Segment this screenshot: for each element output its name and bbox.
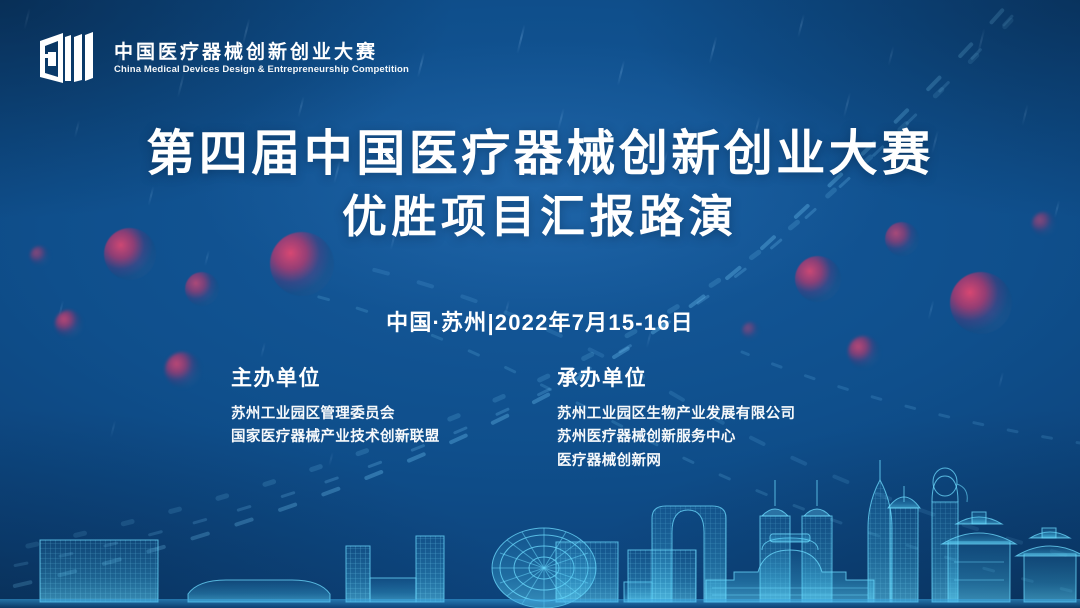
orb <box>795 256 841 302</box>
headline-line-1: 第四届中国医疗器械创新创业大赛 <box>0 126 1080 183</box>
headline-line-2: 优胜项目汇报路演 <box>0 190 1080 245</box>
exhibition-grid-b <box>628 550 696 602</box>
organizer-title: 承办单位 <box>557 368 867 389</box>
open-door-logo-mark-icon <box>38 31 100 87</box>
exhibition-grid-a <box>556 542 618 602</box>
event-poster: 中国医疗器械创新创业大赛 China Medical Devices Desig… <box>0 0 1080 608</box>
logo-chinese-name: 中国医疗器械创新创业大赛 <box>114 43 409 62</box>
city-gate <box>1016 528 1080 602</box>
event-date-location: 中国·苏州|2022年7月15-16日 <box>0 305 1080 337</box>
organizer-item: 苏州工业园区生物产业发展有限公司 <box>557 403 867 426</box>
competition-logo: 中国医疗器械创新创业大赛 China Medical Devices Desig… <box>38 31 409 87</box>
orb <box>185 272 219 306</box>
skyline-ground-line <box>0 599 1080 608</box>
suzhou-skyline-silhouette <box>0 458 1080 608</box>
orb <box>30 246 50 266</box>
organizer-title: 主办单位 <box>231 368 541 389</box>
organizer-item: 苏州医疗器械创新服务中心 <box>557 426 867 449</box>
logo-english-name: China Medical Devices Design & Entrepren… <box>114 65 409 75</box>
pagoda <box>888 486 920 602</box>
organizer-item: 苏州工业园区管理委员会 <box>231 403 541 426</box>
poster-headline: 第四届中国医疗器械创新创业大赛 优胜项目汇报路演 <box>0 126 1080 245</box>
organizer-item: 国家医疗器械产业技术创新联盟 <box>231 426 541 449</box>
exhibition-hall <box>706 534 874 602</box>
orb <box>848 336 880 368</box>
temple-roof <box>942 512 1016 602</box>
